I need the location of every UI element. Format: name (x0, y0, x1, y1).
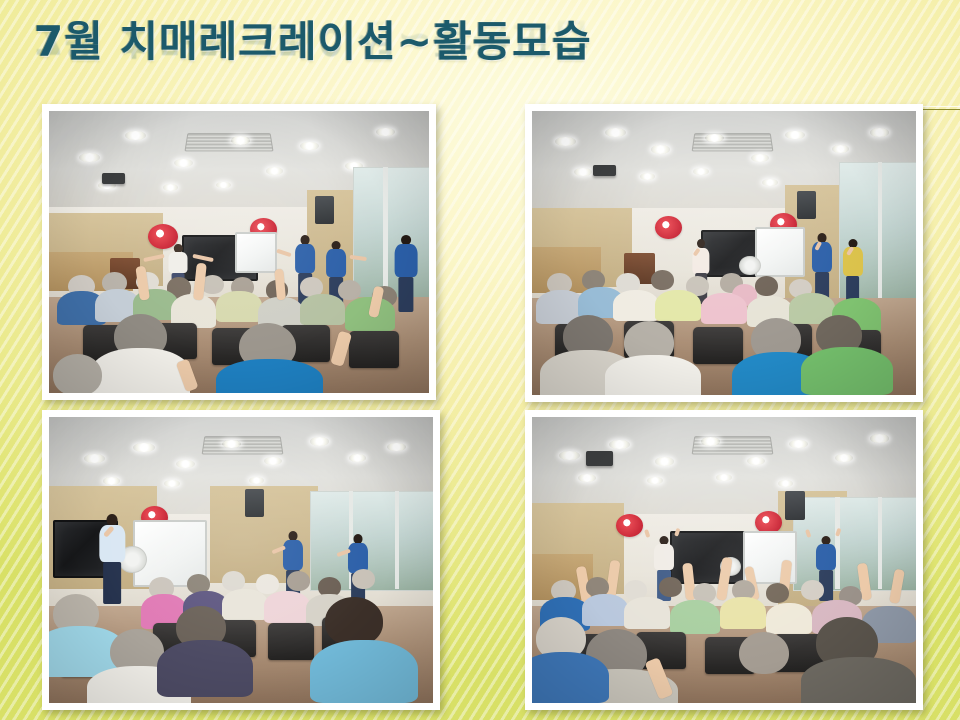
photo-top-right[interactable] (525, 104, 923, 402)
page-title: 7월 치매레크레이션~활동모습 7월 치매레크레이션~활동모습 (34, 16, 754, 102)
photo-bottom-right[interactable] (525, 410, 923, 710)
photo-bottom-left-image (49, 417, 433, 703)
photo-bottom-right-image (532, 417, 916, 703)
header-rule (921, 109, 960, 110)
header-rule-highlight (921, 106, 960, 107)
photo-top-left[interactable] (42, 104, 436, 400)
photo-top-left-image (49, 111, 429, 393)
photo-top-right-image (532, 111, 916, 395)
page-title-reflection: 7월 치매레크레이션~활동모습 (34, 12, 592, 64)
page-title-text: 7월 치매레크레이션~활동모습 (34, 16, 754, 68)
slide-canvas: 7월 치매레크레이션~활동모습 7월 치매레크레이션~활동모습 (0, 0, 960, 720)
photo-bottom-left[interactable] (42, 410, 440, 710)
